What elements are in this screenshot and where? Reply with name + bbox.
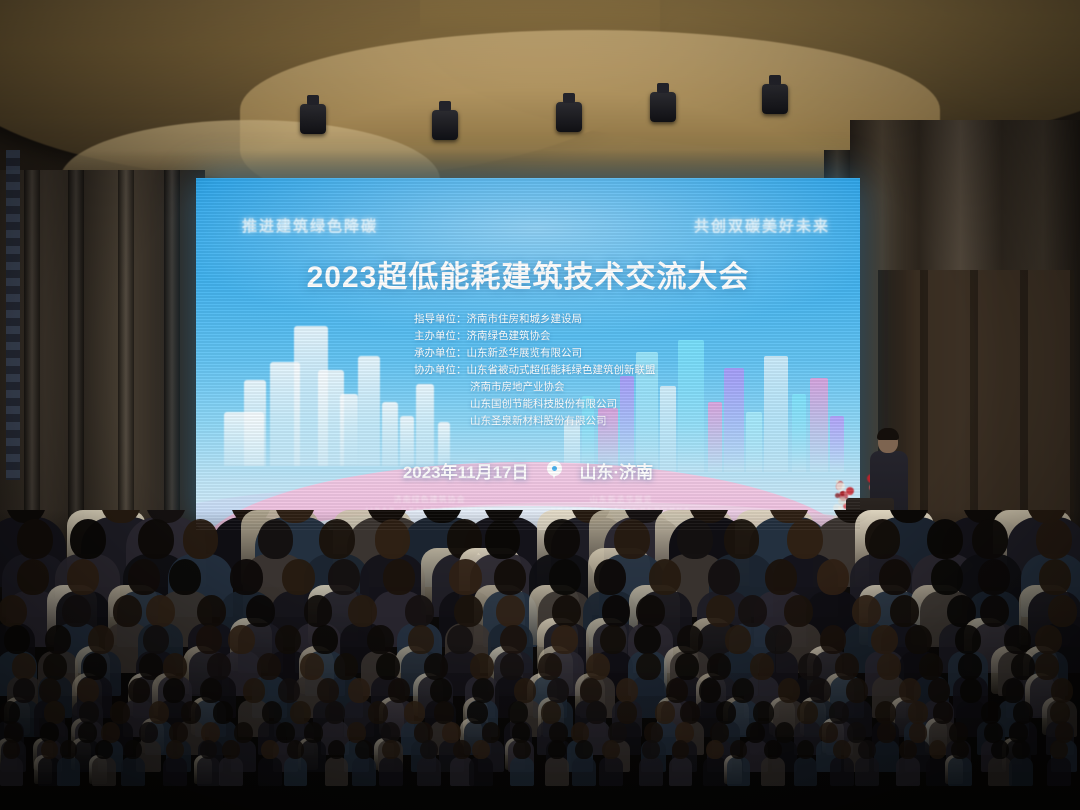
audience-head	[675, 653, 699, 680]
audience-head	[879, 559, 911, 595]
audience-body	[896, 757, 920, 787]
audience-head	[88, 625, 115, 655]
lighting-truss	[6, 150, 20, 480]
audience-head	[871, 625, 898, 655]
audience-head	[586, 653, 610, 680]
audience-head	[538, 653, 562, 680]
audience-head	[0, 701, 20, 724]
audience-head	[730, 740, 748, 760]
audience-head	[383, 559, 415, 595]
audience-head	[820, 625, 847, 655]
audience-head	[602, 740, 620, 760]
event-meta: 2023年11月17日 山东·济南	[196, 458, 860, 483]
audience-head	[60, 740, 78, 760]
audience-head	[388, 678, 410, 703]
audience-head	[420, 740, 438, 760]
audience-head	[835, 653, 859, 680]
audience-body	[669, 757, 693, 787]
audience-head	[70, 519, 106, 559]
audience-head	[78, 722, 97, 743]
audience-body	[761, 757, 785, 787]
audience-head	[496, 595, 525, 627]
audience-head	[753, 701, 773, 724]
audience-head	[139, 722, 158, 743]
audience-head	[408, 625, 435, 655]
audience-head	[846, 678, 868, 703]
audience-head	[163, 678, 185, 703]
audience-head	[764, 740, 782, 760]
audience-head	[750, 653, 774, 680]
audience-head	[972, 519, 1008, 559]
audience-head	[470, 653, 494, 680]
audience-head	[716, 701, 736, 724]
audience-body	[639, 757, 663, 787]
audience-body	[1047, 757, 1071, 787]
organizer-line: 协办单位：山东省被动式超低能耗绿色建筑创新联盟	[414, 362, 656, 379]
spotlight-icon	[556, 102, 582, 132]
audience-head	[775, 722, 794, 743]
audience-head	[541, 701, 561, 724]
audience-head	[83, 653, 107, 680]
audience-body	[352, 757, 376, 787]
audience-head	[405, 595, 434, 627]
location-pin-icon	[547, 461, 562, 480]
audience-head	[899, 678, 921, 703]
audience-head	[454, 595, 483, 627]
audience-head	[424, 653, 448, 680]
audience-head	[128, 559, 160, 595]
audience-head	[586, 701, 606, 724]
audience-head	[367, 625, 394, 655]
audience-head	[724, 519, 760, 559]
audience-body	[163, 757, 187, 787]
audience-head	[549, 559, 581, 595]
audience-head	[3, 740, 21, 760]
audience-head	[376, 653, 400, 680]
audience-head	[304, 595, 333, 627]
audience-head	[960, 678, 982, 703]
audience-head	[991, 740, 1009, 760]
audience-head	[0, 595, 27, 627]
audience-head	[368, 701, 388, 724]
audience-body	[197, 757, 221, 787]
audience-head	[617, 701, 637, 724]
audience-head	[1036, 519, 1072, 559]
audience-head	[62, 595, 91, 627]
audience-head	[290, 701, 310, 724]
audience-head	[919, 653, 943, 680]
audience-head	[929, 740, 947, 760]
audience-head	[262, 701, 282, 724]
audience-head	[819, 722, 838, 743]
audience-head	[213, 701, 233, 724]
audience-head	[282, 559, 314, 595]
audience-head	[594, 559, 626, 595]
audience-head	[858, 740, 876, 760]
audience-head	[485, 519, 521, 559]
audience-head	[738, 595, 767, 627]
audience-body	[948, 757, 972, 787]
audience-head	[246, 595, 275, 627]
audience-body	[599, 757, 623, 787]
audience-body	[1009, 757, 1033, 787]
organizer-line: 山东国创节能科技股份有限公司	[414, 396, 656, 413]
audience-body	[830, 757, 854, 787]
audience-head	[706, 740, 724, 760]
audience-head	[181, 701, 201, 724]
audience-head	[12, 653, 36, 680]
audience-head	[95, 740, 113, 760]
audience-head	[655, 701, 675, 724]
event-date: 2023年11月17日	[403, 458, 529, 483]
audience-head	[600, 625, 627, 655]
audience-head	[746, 722, 765, 743]
audience-head	[1051, 678, 1073, 703]
audience-head	[348, 595, 377, 627]
audience-head	[163, 653, 187, 680]
audience-head	[680, 701, 700, 724]
audience-head	[833, 740, 851, 760]
audience-head	[732, 678, 754, 703]
audience-head	[1050, 701, 1070, 724]
audience-head	[472, 678, 494, 703]
audience-head	[666, 678, 688, 703]
audience-body	[545, 757, 569, 787]
audience-head	[4, 625, 31, 655]
audience-head	[547, 678, 569, 703]
audience-head	[634, 625, 661, 655]
audience-body	[510, 757, 534, 787]
audience-head	[17, 519, 53, 559]
audience-head	[183, 519, 219, 559]
audience-head	[43, 653, 67, 680]
audience-head	[580, 678, 602, 703]
audience-head	[602, 595, 631, 627]
audience-body	[0, 757, 23, 787]
audience-head	[890, 595, 919, 627]
audience-head	[41, 740, 59, 760]
audience-head	[278, 678, 300, 703]
spotlight-icon	[432, 110, 458, 140]
audience-head	[113, 595, 142, 627]
audience-head	[143, 625, 170, 655]
audience-head	[472, 740, 490, 760]
audience-head	[304, 722, 323, 743]
audience-head	[725, 625, 752, 655]
audience-head	[146, 595, 175, 627]
audience-head	[847, 722, 866, 743]
audience-head	[614, 519, 650, 559]
audience-head	[877, 722, 896, 743]
audience-body	[258, 757, 282, 787]
audience-head	[494, 559, 526, 595]
audience-head	[317, 678, 339, 703]
audience-head	[548, 740, 566, 760]
audience-head	[124, 740, 142, 760]
audience-head	[404, 701, 424, 724]
audience-head	[196, 625, 223, 655]
audience-head	[672, 740, 690, 760]
audience-head	[797, 701, 817, 724]
audience-head	[778, 678, 800, 703]
audience-head	[500, 653, 524, 680]
audience-head	[636, 595, 665, 627]
audience-head	[514, 678, 536, 703]
audience-head	[899, 740, 917, 760]
audience-body	[855, 757, 879, 787]
audience-head	[319, 519, 355, 559]
audience-head	[228, 625, 255, 655]
audience-head	[287, 740, 305, 760]
audience-head	[616, 678, 638, 703]
organizer-line: 山东圣泉新材料股份有限公司	[414, 413, 656, 430]
audience-head	[1035, 625, 1062, 655]
audience-head	[375, 519, 411, 559]
audience-head	[865, 519, 901, 559]
audience-head	[382, 740, 400, 760]
audience-head	[200, 740, 218, 760]
audience-head	[708, 559, 740, 595]
audience-head	[442, 722, 461, 743]
audience-head	[334, 653, 358, 680]
organizer-line: 指导单位：济南市住房和城乡建设局	[414, 311, 656, 328]
event-location: 山东·济南	[580, 458, 654, 483]
organizer-line: 主办单位：济南绿色建筑协会	[414, 328, 656, 345]
audience-head	[300, 653, 324, 680]
audience-body	[572, 757, 596, 787]
audience-head	[13, 678, 35, 703]
audience-head	[706, 595, 735, 627]
audience-head	[79, 701, 99, 724]
audience-head	[500, 625, 527, 655]
audience-head	[677, 519, 713, 559]
audience-head	[551, 625, 578, 655]
audience-body	[121, 757, 145, 787]
audience-head	[207, 653, 231, 680]
audience-head	[482, 722, 501, 743]
audience-head	[817, 559, 849, 595]
audience-head	[77, 678, 99, 703]
spotlight-icon	[300, 104, 326, 134]
audience-head	[809, 678, 831, 703]
organizer-line: 承办单位：山东新丞华展览有限公司	[414, 345, 656, 362]
audience-body	[794, 757, 818, 787]
audience-head	[636, 653, 660, 680]
spotlight-icon	[650, 92, 676, 122]
audience-head	[258, 519, 294, 559]
audience-head	[829, 701, 849, 724]
audience-head	[875, 701, 895, 724]
audience-head	[575, 740, 593, 760]
audience-head	[908, 701, 928, 724]
audience-head	[261, 740, 279, 760]
audience-head	[1039, 559, 1071, 595]
audience-head	[434, 701, 454, 724]
audience-head	[110, 701, 130, 724]
audience-head	[230, 559, 262, 595]
spotlight-icon	[762, 84, 788, 114]
audience-head	[699, 678, 721, 703]
audience-body	[57, 757, 81, 787]
audience-body	[325, 757, 349, 787]
audience-head	[677, 625, 704, 655]
audience-head	[933, 701, 953, 724]
audience-head	[328, 740, 346, 760]
audience-head	[909, 722, 928, 743]
audience-head	[877, 653, 901, 680]
audience-head	[931, 559, 963, 595]
audience-head	[852, 595, 881, 627]
banner-text-right: 共创双碳美好未来	[694, 212, 830, 238]
organizer-list: 指导单位：济南市住房和城乡建设局主办单位：济南绿色建筑协会承办单位：山东新丞华展…	[414, 311, 656, 430]
audience-head	[67, 559, 99, 595]
audience-head	[1012, 740, 1030, 760]
audience-head	[508, 701, 528, 724]
audience-head	[765, 625, 792, 655]
audience-head	[905, 625, 932, 655]
audience-body	[727, 757, 751, 787]
seated-audience	[0, 510, 1080, 810]
audience-head	[257, 653, 281, 680]
audience-body	[988, 757, 1012, 787]
audience-head	[978, 559, 1010, 595]
audience-head	[467, 701, 487, 724]
audience-head	[275, 625, 302, 655]
audience-head	[928, 678, 950, 703]
audience-head	[149, 701, 169, 724]
audience-head	[951, 740, 969, 760]
organizer-line: 济南市房地产业协会	[414, 379, 656, 396]
event-title: 2023超低能耗建筑技术交流大会	[196, 252, 860, 296]
audience-head	[166, 740, 184, 760]
banner-text-left: 推进建筑绿色降碳	[242, 212, 378, 238]
audience-head	[1050, 740, 1068, 760]
audience-body	[469, 757, 493, 787]
audience-head	[17, 559, 49, 595]
audience-head	[1048, 595, 1077, 627]
audience-head	[707, 653, 731, 680]
audience-head	[981, 701, 1001, 724]
audience-head	[784, 595, 813, 627]
audience-head	[927, 519, 963, 559]
audience-head	[453, 740, 471, 760]
audience-head	[1035, 653, 1059, 680]
audience-head	[128, 678, 150, 703]
audience-head	[328, 559, 360, 595]
audience-head	[200, 678, 222, 703]
audience-head	[222, 740, 240, 760]
audience-head	[787, 519, 823, 559]
audience-head	[430, 678, 452, 703]
audience-head	[243, 678, 265, 703]
audience-head	[642, 740, 660, 760]
audience-head	[798, 653, 822, 680]
audience-head	[312, 625, 339, 655]
audience-head	[955, 625, 982, 655]
audience-head	[44, 701, 64, 724]
audience-head	[1013, 701, 1033, 724]
audience-head	[513, 740, 531, 760]
audience-head	[348, 678, 370, 703]
audience-head	[447, 625, 474, 655]
audience-head	[552, 595, 581, 627]
audience-head	[355, 740, 373, 760]
audience-head	[197, 595, 226, 627]
audience-head	[649, 559, 681, 595]
audience-head	[1002, 678, 1024, 703]
audience-body	[284, 757, 308, 787]
audience-head	[45, 625, 72, 655]
audience-head	[765, 559, 797, 595]
audience-body	[92, 757, 116, 787]
audience-head	[325, 701, 345, 724]
audience-body	[219, 757, 243, 787]
audience-head	[797, 740, 815, 760]
audience-head	[958, 653, 982, 680]
audience-head	[234, 722, 253, 743]
audience-head	[39, 678, 61, 703]
conference-photo: 推进建筑绿色降碳 共创双碳美好未来 2023超低能耗建筑技术交流大会 指导单位：…	[0, 0, 1080, 810]
audience-head	[138, 519, 174, 559]
audience-body	[379, 757, 403, 787]
audience-body	[417, 757, 441, 787]
led-screen: 推进建筑绿色降碳 共创双碳美好未来 2023超低能耗建筑技术交流大会 指导单位：…	[196, 178, 860, 530]
audience-head	[544, 519, 580, 559]
audience-head	[169, 559, 201, 595]
audience-head	[980, 595, 1009, 627]
